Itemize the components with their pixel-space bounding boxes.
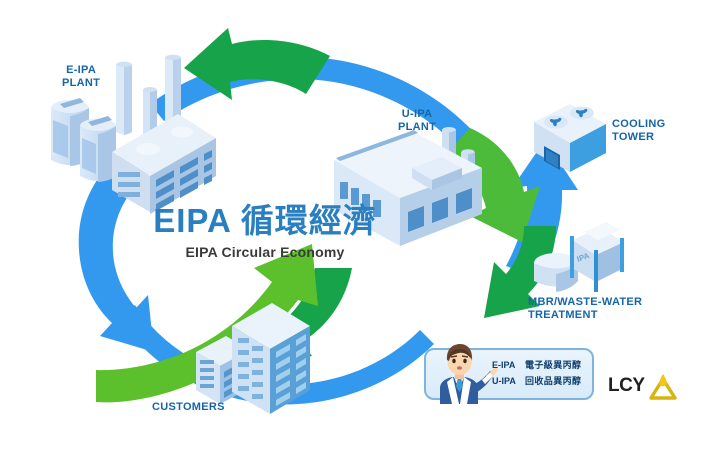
legend-desc-u-ipa: 回收品異丙醇 bbox=[525, 373, 581, 389]
legend-row: U-IPA 回收品異丙醇 bbox=[492, 373, 598, 389]
lcy-logo: LCY bbox=[608, 372, 678, 400]
lcy-triangle-icon bbox=[648, 372, 678, 400]
diagram-canvas: IPA bbox=[0, 0, 720, 450]
lcy-wordmark: LCY bbox=[608, 375, 645, 397]
legend-rows: E-IPA 電子級異丙醇 U-IPA 回收品異丙醇 bbox=[492, 357, 598, 389]
legend-code-u-ipa: U-IPA bbox=[492, 373, 525, 389]
legend-row: E-IPA 電子級異丙醇 bbox=[492, 357, 598, 373]
node-label-mbr-treatment: MBR/WASTE-WATER TREATMENT bbox=[528, 296, 642, 322]
tall-building bbox=[232, 303, 310, 414]
diagram-title-en: EIPA Circular Economy bbox=[130, 244, 400, 260]
node-label-cooling-tower: COOLING TOWER bbox=[612, 118, 665, 144]
node-label-u-ipa-plant: U-IPA PLANT bbox=[398, 108, 436, 134]
node-label-e-ipa-plant: E-IPA PLANT bbox=[62, 64, 100, 90]
legend-desc-e-ipa: 電子級異丙醇 bbox=[525, 357, 581, 373]
node-label-customers: CUSTOMERS bbox=[152, 401, 225, 414]
diagram-title-zh: EIPA 循環經濟 bbox=[130, 202, 400, 240]
mascot-illustration bbox=[430, 340, 498, 404]
diagram-title-block: EIPA 循環經濟 EIPA Circular Economy bbox=[130, 202, 400, 260]
legend-code-e-ipa: E-IPA bbox=[492, 357, 525, 373]
